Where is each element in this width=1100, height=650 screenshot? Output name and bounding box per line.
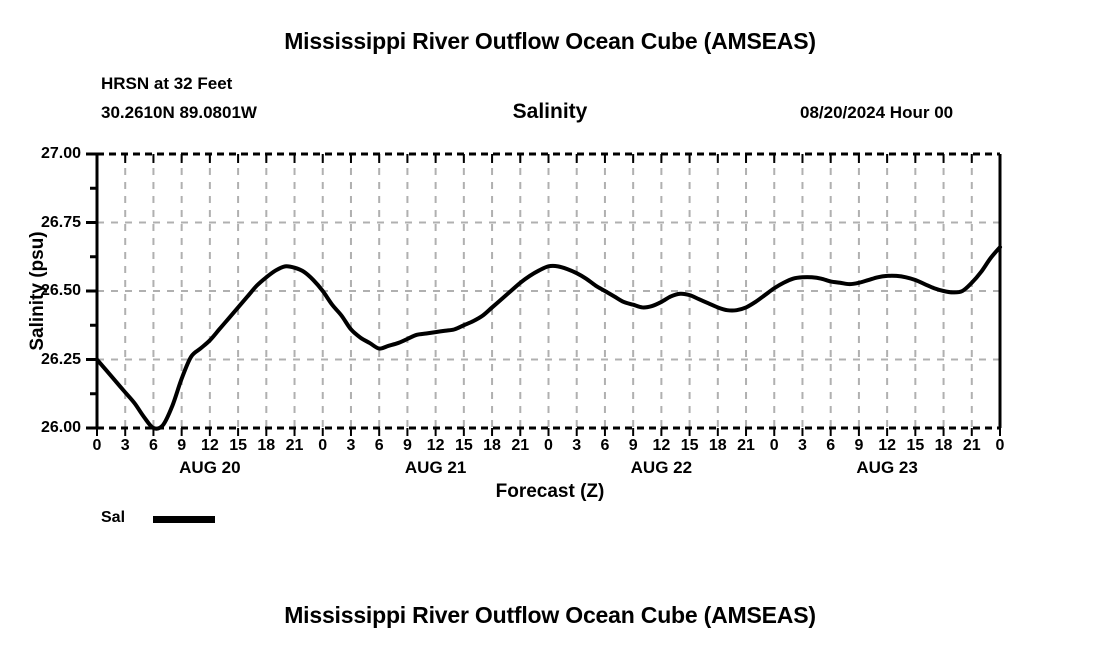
y-tick-label: 26.25 (11, 351, 81, 369)
plot-area (0, 0, 1100, 650)
axis-ticks (86, 154, 1000, 436)
legend-swatch-sal (153, 516, 215, 523)
x-day-label: AUG 21 (366, 458, 506, 478)
page-title-bottom: Mississippi River Outflow Ocean Cube (AM… (0, 602, 1100, 629)
y-tick-label: 26.50 (11, 282, 81, 300)
y-tick-label: 26.75 (11, 214, 81, 232)
y-tick-label: 27.00 (11, 145, 81, 163)
x-day-label: AUG 22 (591, 458, 731, 478)
x-day-label: AUG 20 (140, 458, 280, 478)
y-tick-label: 26.00 (11, 419, 81, 437)
x-day-label: AUG 23 (817, 458, 957, 478)
chart-figure: Mississippi River Outflow Ocean Cube (AM… (0, 0, 1100, 650)
x-tick-label: 0 (980, 437, 1020, 455)
legend-label-sal: Sal (101, 509, 125, 527)
